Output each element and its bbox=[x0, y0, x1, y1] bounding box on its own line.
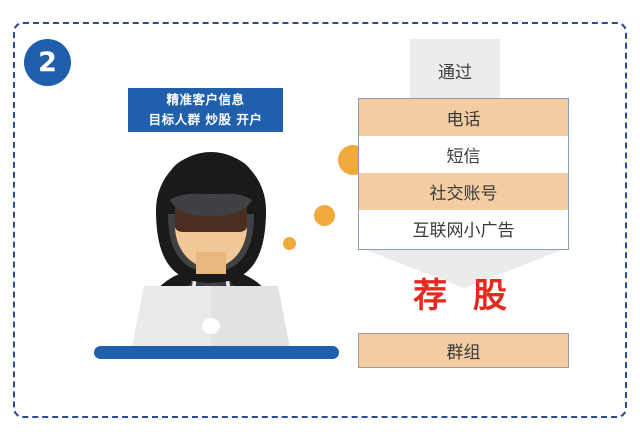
list-item[interactable]: 短信 bbox=[359, 136, 568, 173]
orange-dot-medium bbox=[314, 205, 335, 226]
target-info-label-box: 精准客户信息 目标人群 炒股 开户 bbox=[128, 88, 283, 132]
label-line-1: 精准客户信息 bbox=[166, 91, 244, 109]
step-number-text: 2 bbox=[38, 49, 57, 76]
label-line-2: 目标人群 炒股 开户 bbox=[149, 111, 263, 129]
list-item[interactable]: 电话 bbox=[359, 99, 568, 136]
list-item[interactable]: 互联网小广告 bbox=[359, 210, 568, 247]
hooded-hacker-icon bbox=[96, 148, 326, 353]
channel-list: 电话 短信 社交账号 互联网小广告 bbox=[358, 98, 569, 250]
orange-dot-small bbox=[283, 237, 296, 250]
infographic-canvas: 2 精准客户信息 目标人群 炒股 开户 bbox=[0, 0, 640, 434]
group-box: 群组 bbox=[358, 333, 569, 368]
result-label: 荐 股 bbox=[358, 268, 569, 317]
channel-header-text: 通过 bbox=[410, 58, 500, 83]
step-number-badge: 2 bbox=[24, 39, 71, 86]
list-item[interactable]: 社交账号 bbox=[359, 173, 568, 210]
desk-bar bbox=[94, 346, 339, 359]
